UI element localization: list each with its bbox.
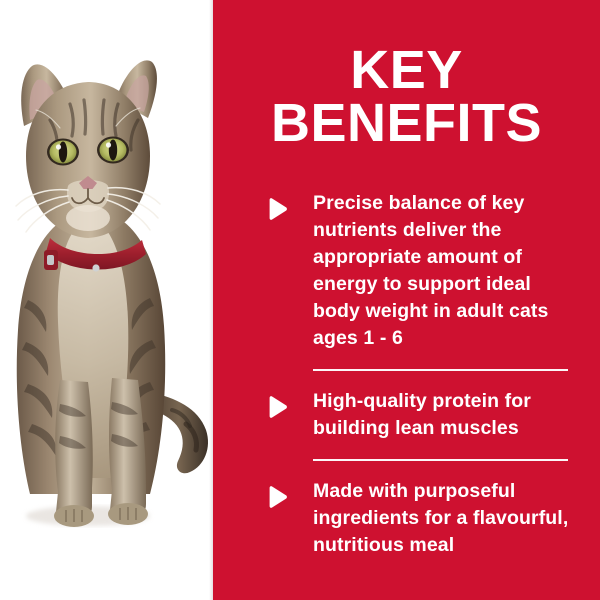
page-title: KEY BENEFITS — [213, 44, 600, 150]
benefit-divider-2 — [313, 459, 568, 461]
benefits-red-panel: KEY BENEFITS Precise balance of key nutr… — [213, 0, 600, 600]
play-triangle-icon — [267, 486, 288, 508]
cat-photo — [0, 0, 213, 600]
play-triangle-icon — [267, 198, 288, 220]
benefit-item-2: High-quality protein for building lean m… — [213, 388, 600, 442]
cat-photo-panel — [0, 0, 213, 600]
benefit-item-3: Made with purposeful ingredients for a f… — [213, 478, 600, 559]
play-triangle-icon — [267, 396, 288, 418]
page-title-line-1: KEY — [213, 44, 600, 97]
benefit-divider-1 — [313, 369, 568, 371]
benefit-text-3: Made with purposeful ingredients for a f… — [313, 478, 580, 559]
benefit-text-1: Precise balance of key nutrients deliver… — [313, 190, 580, 352]
key-benefits-panel: KEY BENEFITS Precise balance of key nutr… — [0, 0, 600, 600]
benefit-text-2: High-quality protein for building lean m… — [313, 388, 580, 442]
benefits-list: Precise balance of key nutrients deliver… — [213, 190, 600, 559]
page-title-line-2: BENEFITS — [213, 97, 600, 150]
benefit-item-1: Precise balance of key nutrients deliver… — [213, 190, 600, 352]
